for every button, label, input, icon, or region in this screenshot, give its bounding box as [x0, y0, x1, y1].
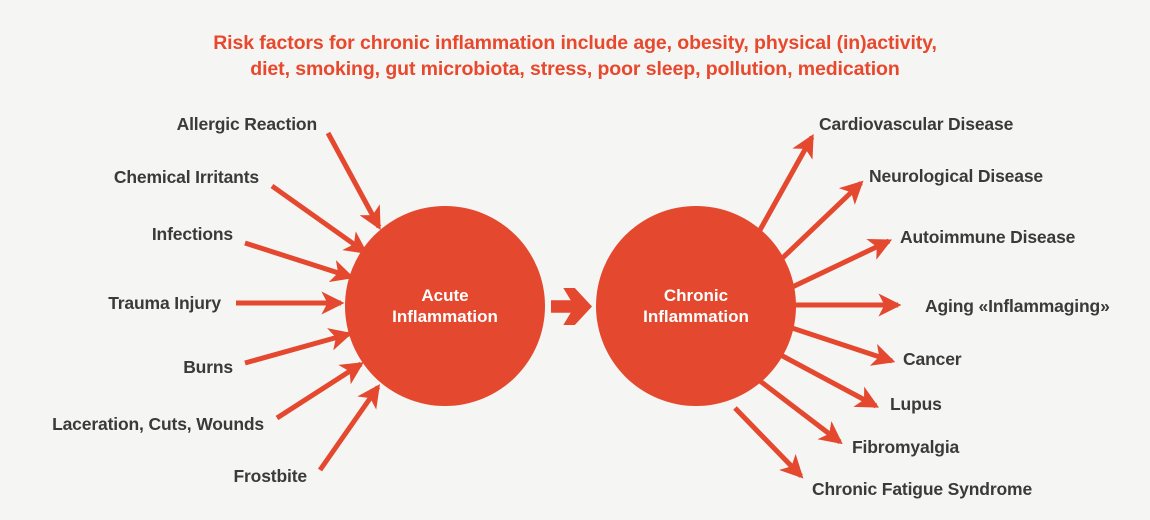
cause-label-3: Trauma Injury [108, 293, 221, 313]
outcome-arrow-7 [735, 408, 801, 476]
cause-label-5: Laceration, Cuts, Wounds [52, 414, 264, 434]
node-chronic-line-2: Inflammation [643, 306, 749, 327]
cause-arrow-2 [245, 243, 351, 277]
cause-label-0: Allergic Reaction [177, 114, 317, 134]
cause-arrow-0 [328, 133, 379, 227]
cause-label-4: Burns [183, 357, 233, 377]
node-acute-inflammation[interactable]: Acute Inflammation [345, 206, 545, 406]
outcome-label-3: Aging «Inflammaging» [925, 296, 1110, 316]
title-line-1: Risk factors for chronic inflammation in… [0, 30, 1150, 56]
node-acute-line-2: Inflammation [392, 306, 498, 327]
progression-arrow-icon [551, 288, 592, 325]
outcome-arrow-0 [760, 137, 812, 230]
outcome-arrow-6 [760, 381, 840, 442]
diagram-title: Risk factors for chronic inflammation in… [0, 30, 1150, 82]
outcome-arrow-5 [777, 353, 876, 406]
cause-label-2: Infections [152, 224, 233, 244]
outcome-label-4: Cancer [903, 349, 961, 369]
node-chronic-line-1: Chronic [643, 285, 749, 306]
cause-label-1: Chemical Irritants [114, 167, 259, 187]
cause-arrow-6 [320, 387, 378, 470]
outcome-label-2: Autoimmune Disease [900, 227, 1075, 247]
outcome-arrow-2 [786, 241, 889, 290]
outcome-arrow-4 [789, 327, 892, 361]
node-acute-line-1: Acute [392, 285, 498, 306]
outcome-label-7: Chronic Fatigue Syndrome [812, 479, 1032, 499]
outcome-label-5: Lupus [890, 394, 942, 414]
cause-arrow-4 [245, 334, 349, 363]
cause-arrow-1 [272, 186, 365, 252]
outcome-label-0: Cardiovascular Disease [819, 114, 1013, 134]
node-chronic-inflammation[interactable]: Chronic Inflammation [596, 206, 796, 406]
outcome-label-6: Fibromyalgia [852, 437, 959, 457]
outcome-label-1: Neurological Disease [869, 166, 1043, 186]
outcome-arrow-1 [772, 183, 861, 268]
cause-label-6: Frostbite [233, 466, 307, 486]
title-line-2: diet, smoking, gut microbiota, stress, p… [0, 56, 1150, 82]
inflammation-diagram: Risk factors for chronic inflammation in… [0, 0, 1150, 520]
cause-arrow-5 [277, 364, 361, 418]
